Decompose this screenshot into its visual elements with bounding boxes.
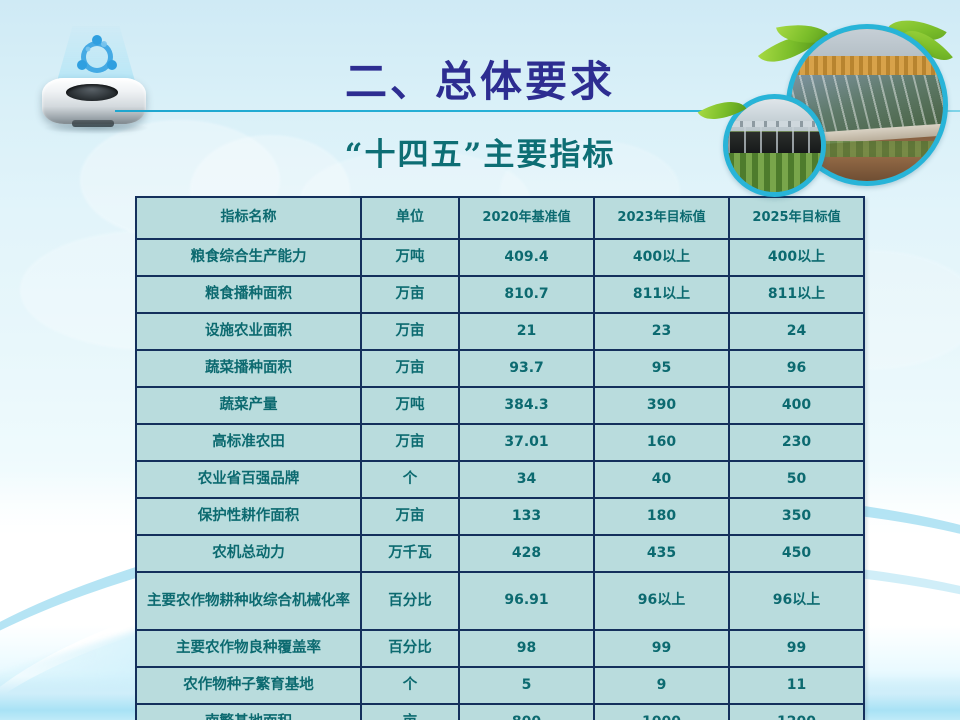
cell-target2023: 160: [594, 424, 729, 461]
cell-name: 设施农业面积: [136, 313, 361, 350]
cell-target2023: 99: [594, 630, 729, 667]
cell-name: 主要农作物耕种收综合机械化率: [136, 572, 361, 630]
cell-target2023: 180: [594, 498, 729, 535]
table-row: 设施农业面积 万亩 21 23 24: [136, 313, 864, 350]
column-header-target2025: 2025年目标值: [729, 197, 864, 239]
cell-target2025: 50: [729, 461, 864, 498]
table-row: 保护性耕作面积 万亩 133 180 350: [136, 498, 864, 535]
cell-base2020: 96.91: [459, 572, 594, 630]
cell-target2023: 95: [594, 350, 729, 387]
cell-base2020: 37.01: [459, 424, 594, 461]
cell-target2023: 400以上: [594, 239, 729, 276]
cell-unit: 亩: [361, 704, 459, 720]
table-header-row: 指标名称 单位 2020年基准值 2023年目标值 2025年目标值: [136, 197, 864, 239]
cell-name: 农机总动力: [136, 535, 361, 572]
cell-unit: 万亩: [361, 498, 459, 535]
indicators-table: 指标名称 单位 2020年基准值 2023年目标值 2025年目标值 粮食综合生…: [135, 196, 865, 720]
cell-name: 蔬菜播种面积: [136, 350, 361, 387]
table-row: 粮食综合生产能力 万吨 409.4 400以上 400以上: [136, 239, 864, 276]
cell-target2023: 390: [594, 387, 729, 424]
cell-unit: 万亩: [361, 313, 459, 350]
cell-target2025: 24: [729, 313, 864, 350]
table-row: 蔬菜产量 万吨 384.3 390 400: [136, 387, 864, 424]
cell-base2020: 5: [459, 667, 594, 704]
cell-target2023: 9: [594, 667, 729, 704]
cell-target2023: 96以上: [594, 572, 729, 630]
cell-target2023: 811以上: [594, 276, 729, 313]
column-header-unit: 单位: [361, 197, 459, 239]
table-row: 粮食播种面积 万亩 810.7 811以上 811以上: [136, 276, 864, 313]
cell-base2020: 810.7: [459, 276, 594, 313]
cell-target2025: 1200: [729, 704, 864, 720]
cell-target2025: 811以上: [729, 276, 864, 313]
cell-name: 粮食综合生产能力: [136, 239, 361, 276]
cell-unit: 万千瓦: [361, 535, 459, 572]
cell-unit: 万亩: [361, 350, 459, 387]
cell-base2020: 428: [459, 535, 594, 572]
cell-name: 粮食播种面积: [136, 276, 361, 313]
cell-base2020: 21: [459, 313, 594, 350]
table-row: 高标准农田 万亩 37.01 160 230: [136, 424, 864, 461]
cell-target2025: 99: [729, 630, 864, 667]
cell-unit: 个: [361, 667, 459, 704]
cell-unit: 个: [361, 461, 459, 498]
cell-base2020: 409.4: [459, 239, 594, 276]
cell-base2020: 800: [459, 704, 594, 720]
table-row: 主要农作物良种覆盖率 百分比 98 99 99: [136, 630, 864, 667]
cell-target2025: 96: [729, 350, 864, 387]
table-row: 农作物种子繁育基地 个 5 9 11: [136, 667, 864, 704]
cell-name: 高标准农田: [136, 424, 361, 461]
cell-target2023: 1000: [594, 704, 729, 720]
table-row: 主要农作物耕种收综合机械化率 百分比 96.91 96以上 96以上: [136, 572, 864, 630]
cell-target2025: 400: [729, 387, 864, 424]
column-header-base2020: 2020年基准值: [459, 197, 594, 239]
column-header-name: 指标名称: [136, 197, 361, 239]
cell-base2020: 34: [459, 461, 594, 498]
table-row: 蔬菜播种面积 万亩 93.7 95 96: [136, 350, 864, 387]
column-header-target2023: 2023年目标值: [594, 197, 729, 239]
cell-unit: 万亩: [361, 424, 459, 461]
cell-unit: 万亩: [361, 276, 459, 313]
cell-target2025: 350: [729, 498, 864, 535]
cell-unit: 万吨: [361, 239, 459, 276]
slide-canvas: 二、总体要求 “十四五”主要指标 指标名称 单: [0, 0, 960, 720]
cell-name: 蔬菜产量: [136, 387, 361, 424]
cell-base2020: 93.7: [459, 350, 594, 387]
cell-target2025: 96以上: [729, 572, 864, 630]
cell-unit: 万吨: [361, 387, 459, 424]
cell-target2025: 11: [729, 667, 864, 704]
cell-target2025: 450: [729, 535, 864, 572]
table-row: 农业省百强品牌 个 34 40 50: [136, 461, 864, 498]
cell-target2023: 435: [594, 535, 729, 572]
table-row: 南繁基地面积 亩 800 1000 1200: [136, 704, 864, 720]
table-body: 指标名称 单位 2020年基准值 2023年目标值 2025年目标值 粮食综合生…: [136, 197, 864, 720]
cell-name: 农业省百强品牌: [136, 461, 361, 498]
cell-name: 农作物种子繁育基地: [136, 667, 361, 704]
cell-name: 保护性耕作面积: [136, 498, 361, 535]
cell-name: 主要农作物良种覆盖率: [136, 630, 361, 667]
cell-target2025: 400以上: [729, 239, 864, 276]
cell-unit: 百分比: [361, 572, 459, 630]
cell-base2020: 384.3: [459, 387, 594, 424]
cell-target2023: 23: [594, 313, 729, 350]
cell-target2023: 40: [594, 461, 729, 498]
cell-base2020: 133: [459, 498, 594, 535]
cell-base2020: 98: [459, 630, 594, 667]
table-row: 农机总动力 万千瓦 428 435 450: [136, 535, 864, 572]
cell-name: 南繁基地面积: [136, 704, 361, 720]
cell-unit: 百分比: [361, 630, 459, 667]
cell-target2025: 230: [729, 424, 864, 461]
